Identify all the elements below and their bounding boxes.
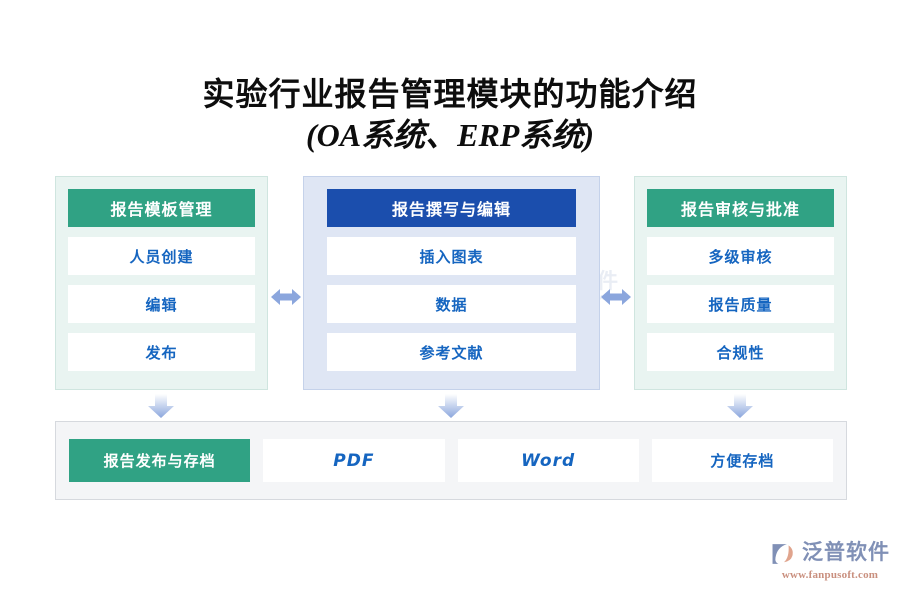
list-item[interactable]: 编辑 bbox=[68, 285, 255, 323]
brand-logo: 泛普软件 www.fanpusoft.com bbox=[769, 539, 891, 587]
arrow-down-icon bbox=[437, 394, 465, 418]
arrow-down-icon bbox=[147, 394, 175, 418]
bottom-item-pdf[interactable]: PDF bbox=[263, 439, 444, 482]
list-item[interactable]: 合规性 bbox=[647, 333, 834, 371]
list-item[interactable]: 参考文献 bbox=[327, 333, 576, 371]
bottom-item-word[interactable]: Word bbox=[458, 439, 639, 482]
column-report-writing-editing: 报告撰写与编辑 插入图表 数据 参考文献 bbox=[303, 176, 600, 390]
brand-url: www.fanpusoft.com bbox=[782, 569, 878, 581]
list-item[interactable]: 人员创建 bbox=[68, 237, 255, 275]
column-header-report-review-approval: 报告审核与批准 bbox=[647, 189, 834, 227]
columns-row: 报告模板管理 人员创建 编辑 发布 报告撰写与编辑 插入图表 数据 参考文献 报… bbox=[0, 176, 900, 390]
list-item[interactable]: 报告质量 bbox=[647, 285, 834, 323]
list-item[interactable]: 多级审核 bbox=[647, 237, 834, 275]
double-arrow-horizontal-icon bbox=[271, 286, 301, 308]
column-report-review-approval: 报告审核与批准 多级审核 报告质量 合规性 bbox=[634, 176, 847, 390]
bottom-bar-report-publish-archive: 报告发布与存档 PDF Word 方便存档 bbox=[55, 421, 847, 500]
column-report-template-management: 报告模板管理 人员创建 编辑 发布 bbox=[55, 176, 268, 390]
title-line-main: 实验行业报告管理模块的功能介绍 bbox=[0, 74, 900, 115]
column-header-report-template-management: 报告模板管理 bbox=[68, 189, 255, 227]
brand-name: 泛普软件 bbox=[802, 542, 890, 563]
list-item[interactable]: 数据 bbox=[327, 285, 576, 323]
list-item[interactable]: 发布 bbox=[68, 333, 255, 371]
bottom-lead-label: 报告发布与存档 bbox=[69, 439, 250, 482]
double-arrow-horizontal-icon bbox=[601, 286, 631, 308]
title-line-sub: (OA系统、ERP系统) bbox=[0, 115, 900, 156]
bottom-item-archive[interactable]: 方便存档 bbox=[652, 439, 833, 482]
brand-logo-top: 泛普软件 bbox=[770, 539, 890, 566]
fanpu-logo-mark-icon bbox=[770, 539, 797, 566]
list-item[interactable]: 插入图表 bbox=[327, 237, 576, 275]
page-title: 实验行业报告管理模块的功能介绍 (OA系统、ERP系统) bbox=[0, 74, 900, 156]
arrow-down-icon bbox=[726, 394, 754, 418]
column-header-report-writing-editing: 报告撰写与编辑 bbox=[327, 189, 576, 227]
